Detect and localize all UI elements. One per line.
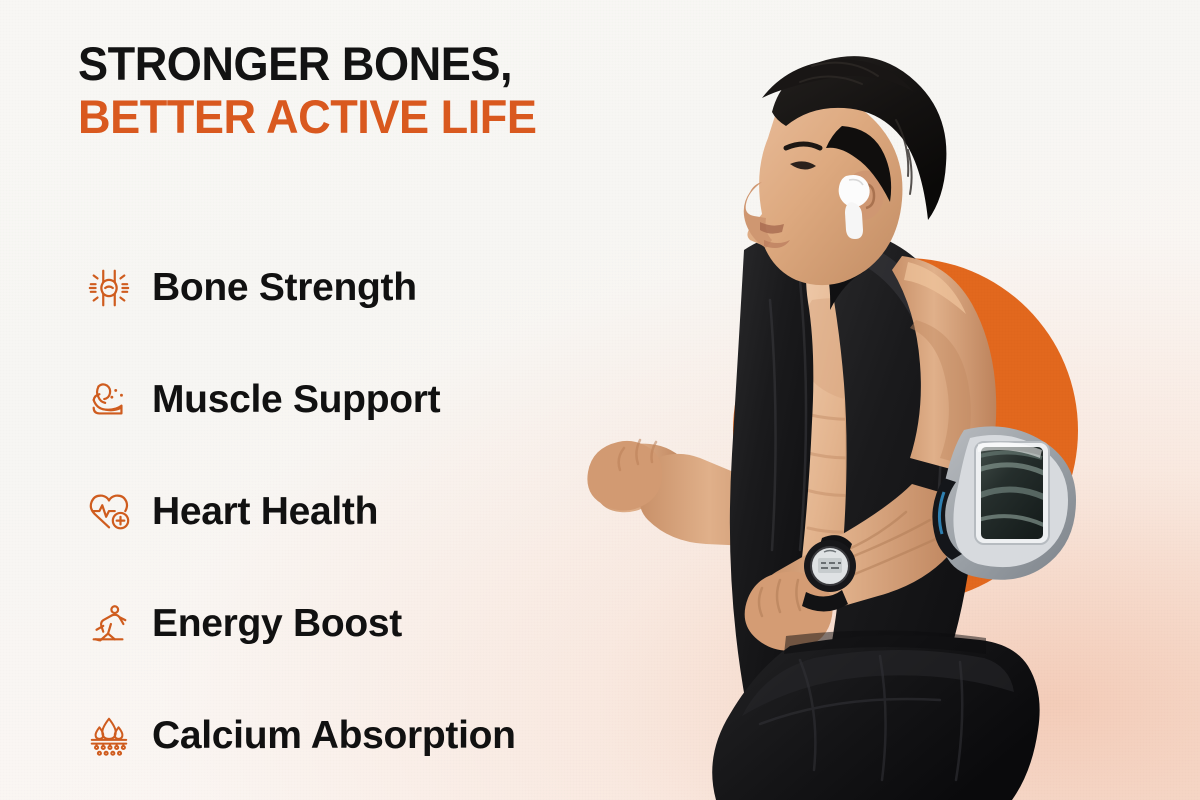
orange-circle-decoration: [733, 258, 1078, 603]
feature-label: Heart Health: [152, 490, 378, 534]
feature-list: Bone Strength Muscle Support: [78, 232, 678, 792]
headline-line-1: STRONGER BONES,: [78, 38, 712, 91]
feature-item-muscle-support: Muscle Support: [78, 344, 678, 456]
feature-item-calcium-absorption: Calcium Absorption: [78, 680, 678, 792]
headline: STRONGER BONES, BETTER ACTIVE LIFE: [78, 38, 738, 143]
feature-item-energy-boost: Energy Boost: [78, 568, 678, 680]
calcium-droplet-icon: [78, 708, 140, 764]
feature-label: Muscle Support: [152, 378, 440, 422]
earbud: [839, 175, 870, 239]
feature-label: Bone Strength: [152, 266, 417, 310]
heart-pulse-plus-icon: [78, 484, 140, 540]
running-person-icon: [78, 596, 140, 652]
feature-label: Energy Boost: [152, 602, 402, 646]
feature-item-heart-health: Heart Health: [78, 456, 678, 568]
feature-item-bone-strength: Bone Strength: [78, 232, 678, 344]
flexed-bicep-icon: [78, 372, 140, 428]
headline-line-2: BETTER ACTIVE LIFE: [78, 91, 712, 144]
promotional-banner: STRONGER BONES, BETTER ACTIVE LIFE Bone …: [0, 0, 1200, 800]
feature-label: Calcium Absorption: [152, 714, 516, 758]
bone-joint-icon: [78, 260, 140, 316]
